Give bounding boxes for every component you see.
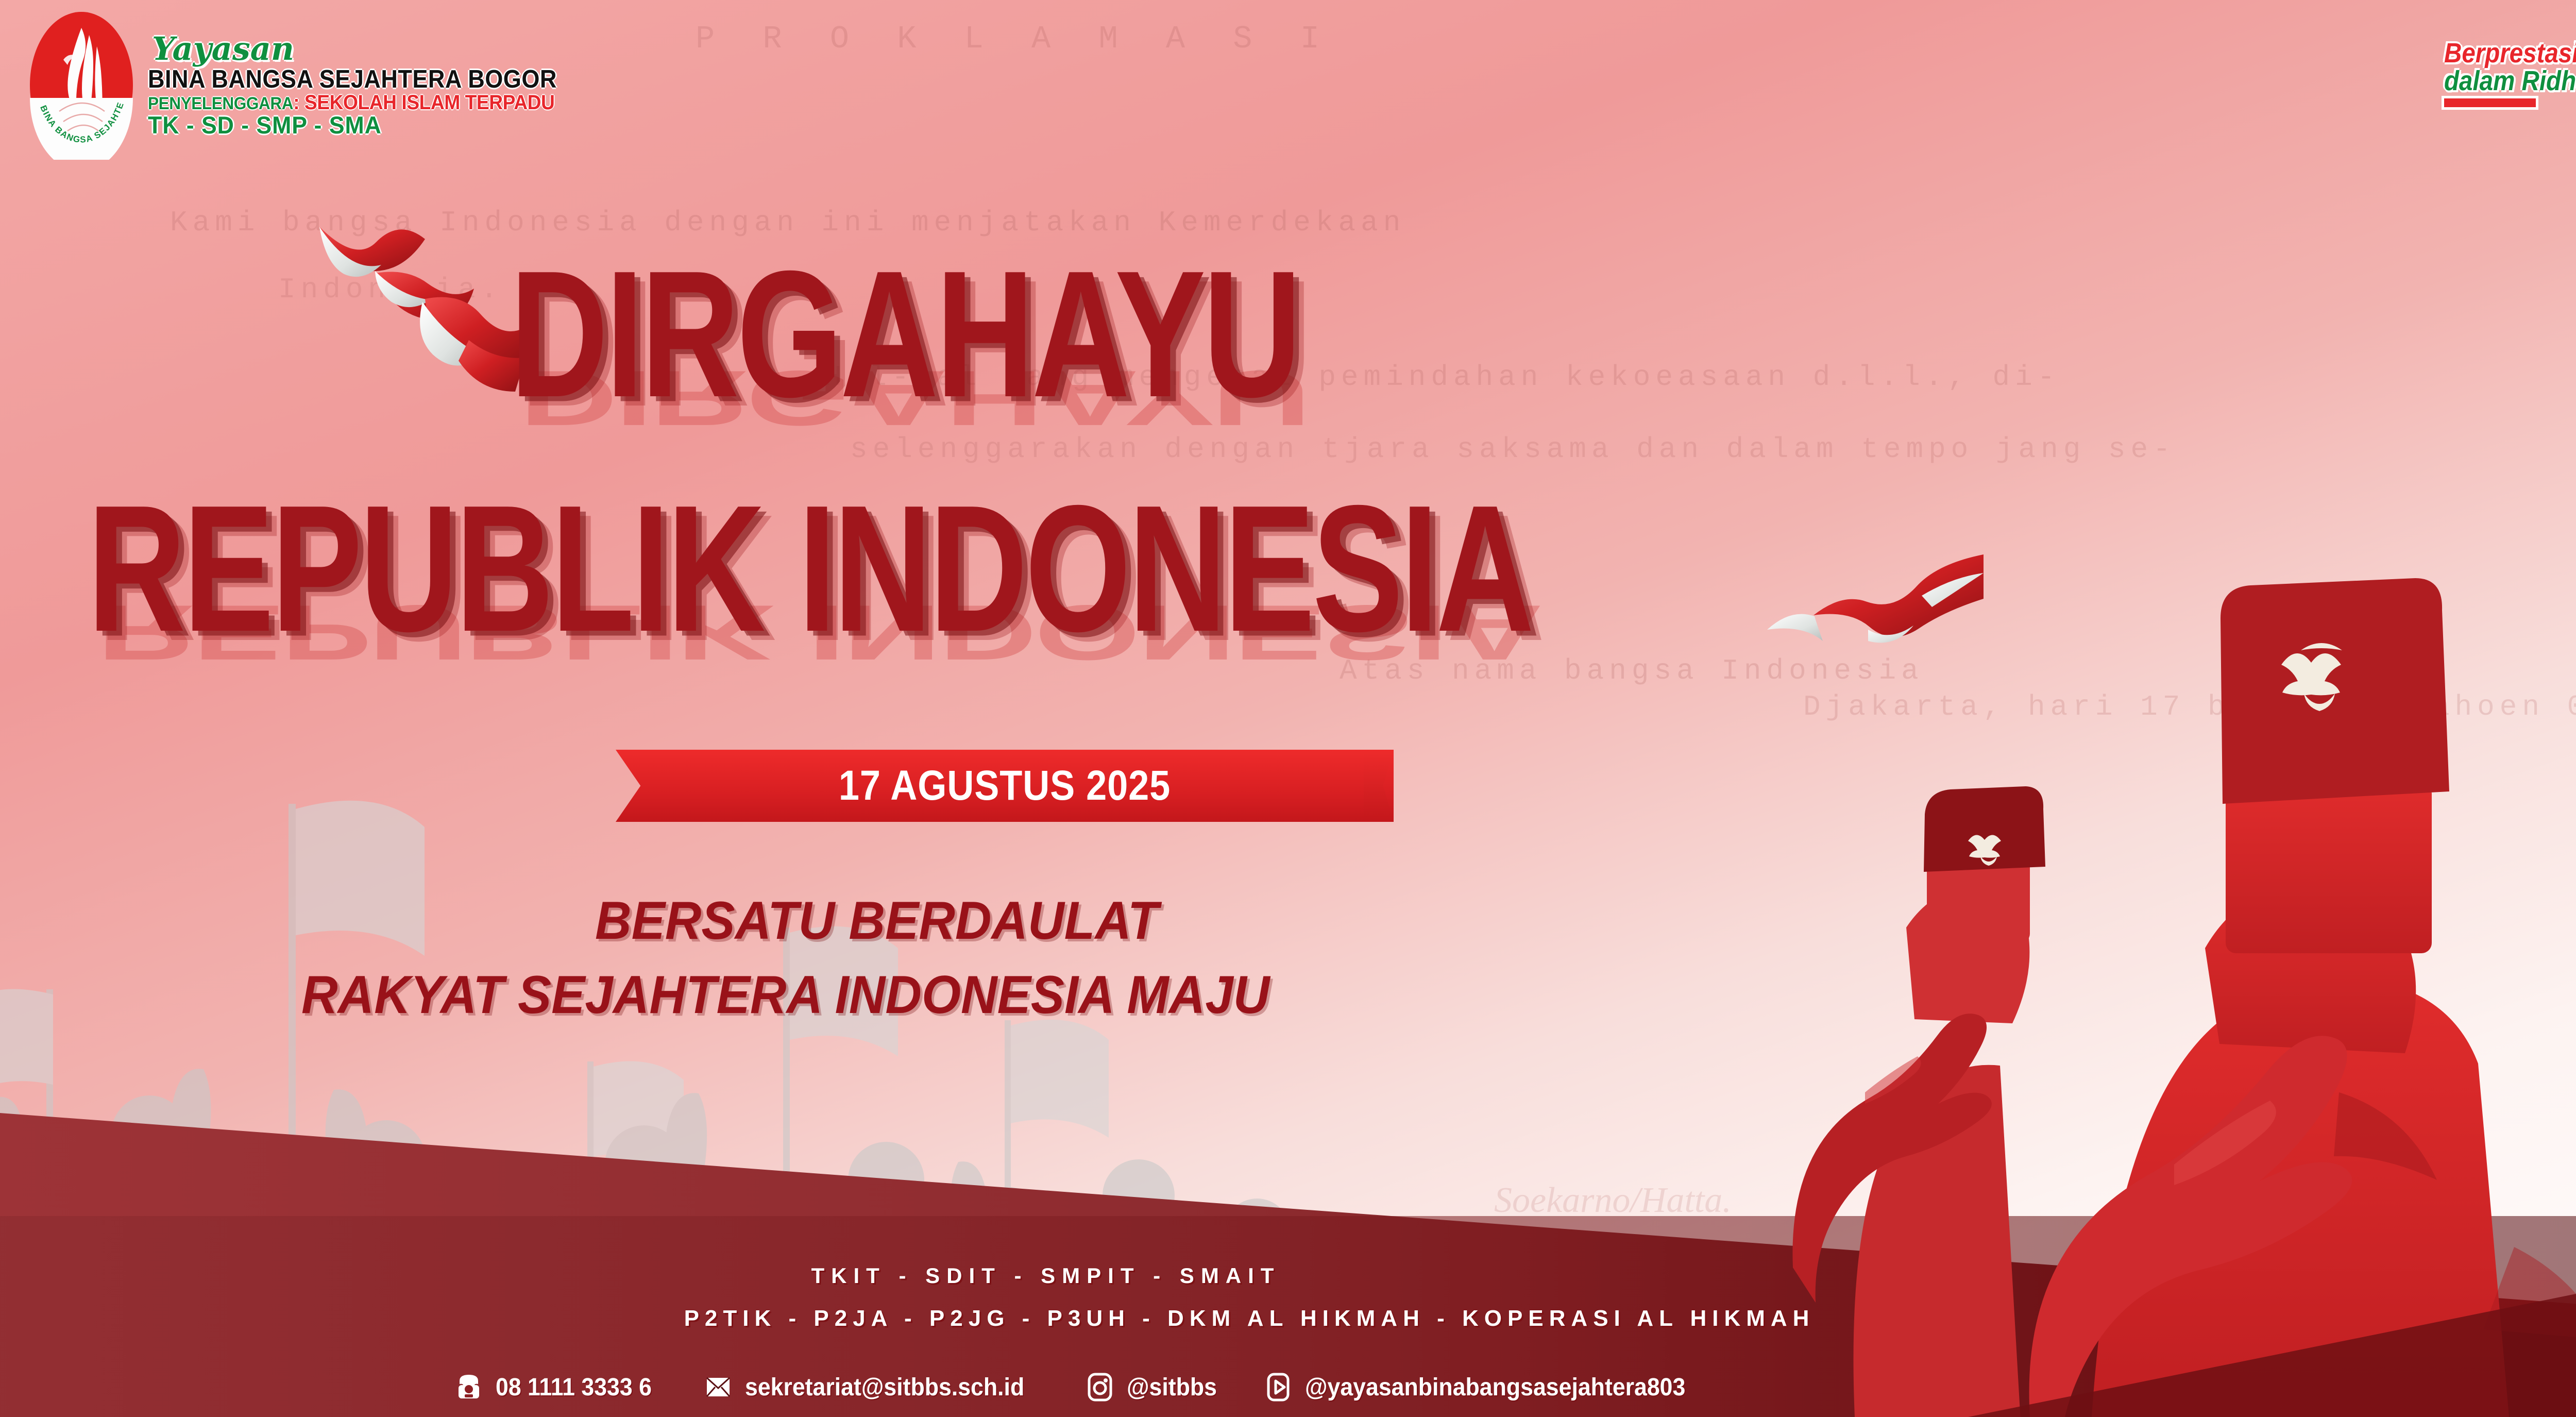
motto-line-1: Berprestasi — [2444, 40, 2576, 66]
date-banner-text: 17 AGUSTUS 2025 — [839, 762, 1171, 810]
date-banner: 17 AGUSTUS 2025 — [616, 750, 1394, 822]
contact-email-value: sekretariat@sitbbs.sch.id — [745, 1373, 1024, 1402]
contact-item-email[interactable]: sekretariat@sitbbs.sch.id — [703, 1372, 1045, 1403]
contact-youtube-value: @yayasanbinabangsasejahtera803 — [1305, 1373, 1685, 1402]
motto-badge: Berprestasi dalam Ridho Ilahi — [2444, 40, 2576, 107]
independence-day-banner: P R O K L A M A S I Kami bangsa Indonesi… — [0, 0, 2576, 1417]
footer-units-line-1: TKIT - SDIT - SMPIT - SMAIT — [170, 1263, 1922, 1288]
headline-line-1: DIRGAHAYU — [510, 260, 1299, 408]
penyelenggara-value: : SEKOLAH ISLAM TERPADU — [293, 92, 554, 113]
motto-line-2: dalam Ridho — [2444, 68, 2576, 94]
contact-instagram-value: @sitbbs — [1127, 1373, 1217, 1402]
motto-underline-rule — [2444, 98, 2536, 107]
saluting-figure-front — [2029, 578, 2576, 1417]
foundation-name: BINA BANGSA SEJAHTERA BOGOR — [148, 67, 557, 92]
contact-bar: 08 1111 3333 6 sekretariat@sitbbs.sch.id… — [453, 1372, 1714, 1403]
penyelenggara-label: PENYELENGGARA — [148, 95, 293, 112]
footer-units-line-2: P2TIK - P2JA - P2JG - P3UH - DKM AL HIKM… — [0, 1306, 2499, 1331]
contact-item-phone[interactable]: 08 1111 3333 6 — [453, 1372, 664, 1403]
instagram-icon — [1084, 1372, 1115, 1403]
headline-line-1-reflection: DIRGAHAYU — [519, 366, 1308, 430]
contact-item-instagram[interactable]: @sitbbs — [1084, 1372, 1224, 1403]
flag-ribbon-left — [314, 222, 536, 392]
foundation-yayasan-label: Yayasan — [152, 33, 592, 65]
headline-line-2: REPUBLIK INDONESIA — [88, 495, 1532, 643]
background-proclamation-line-3: Hal-hal jang mengenai pemindahan kekoeas… — [824, 361, 2060, 394]
contact-item-youtube[interactable]: @yayasanbinabangsasejahtera803 — [1263, 1372, 1714, 1403]
foundation-seal-logo: BINA BANGSA SEJAHTERA — [28, 10, 134, 160]
envelope-icon — [703, 1372, 734, 1403]
background-proclamation-line-4: selenggarakan dengan tjara saksama dan d… — [850, 433, 2176, 466]
youtube-icon — [1263, 1372, 1294, 1403]
contact-phone-value: 08 1111 3333 6 — [496, 1373, 652, 1402]
foundation-logo-block: BINA BANGSA SEJAHTERA Yayasan BINA BANGS… — [28, 10, 592, 160]
school-levels: TK - SD - SMP - SMA — [148, 113, 570, 137]
phone-icon — [453, 1372, 484, 1403]
headline-line-2-reflection: REPUBLIK INDONESIA — [97, 601, 1541, 665]
background-proclamation-title: P R O K L A M A S I — [696, 21, 1334, 57]
